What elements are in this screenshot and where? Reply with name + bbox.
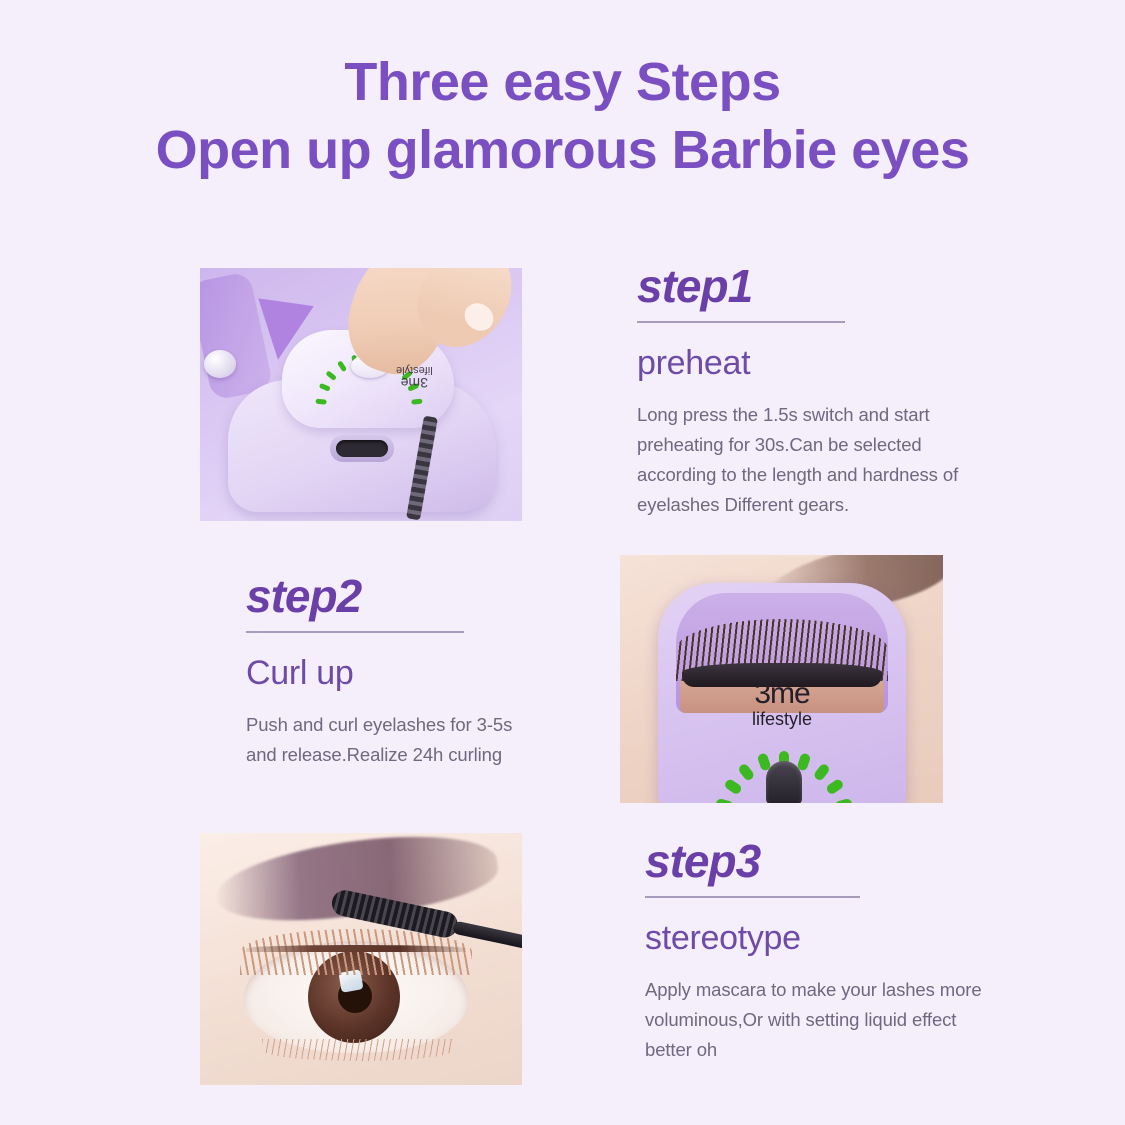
step1-description: Long press the 1.5s switch and start pre… <box>637 400 967 520</box>
lash-line <box>246 945 466 952</box>
watermark-step1: 3me lifestyle <box>396 364 433 390</box>
step1-title: preheat <box>637 345 967 382</box>
step3-divider <box>645 896 860 898</box>
step3-text-block: step3 stereotype Apply mascara to make y… <box>645 838 985 1065</box>
step3-label: step3 <box>645 838 985 884</box>
step2-description: Push and curl eyelashes for 3-5s and rel… <box>246 710 546 770</box>
step2-title: Curl up <box>246 655 546 692</box>
step3-photo <box>200 833 522 1085</box>
step3-title: stereotype <box>645 920 985 957</box>
power-button <box>766 761 802 803</box>
watermark-sub: lifestyle <box>396 364 433 376</box>
usb-c-port-icon <box>336 440 388 457</box>
step1-label: step1 <box>637 263 967 309</box>
step2-photo: 3me lifestyle <box>620 555 943 803</box>
heading-line-2: Open up glamorous Barbie eyes <box>0 120 1125 180</box>
step1-photo: 3me lifestyle <box>200 268 522 521</box>
step3-description: Apply mascara to make your lashes more v… <box>645 975 985 1065</box>
lower-lashes <box>262 1039 454 1061</box>
page-title: Three easy Steps Open up glamorous Barbi… <box>0 52 1125 181</box>
step1-divider <box>637 321 845 323</box>
infographic-page: Three easy Steps Open up glamorous Barbi… <box>0 0 1125 1125</box>
watermark-step2: 3me lifestyle <box>706 679 858 737</box>
watermark-brand: 3me <box>706 679 858 709</box>
curler-knob <box>204 350 236 378</box>
step2-label: step2 <box>246 573 546 619</box>
watermark-sub: lifestyle <box>706 709 858 731</box>
step2-text-block: step2 Curl up Push and curl eyelashes fo… <box>246 573 546 770</box>
step2-divider <box>246 631 464 633</box>
step1-text-block: step1 preheat Long press the 1.5s switch… <box>637 263 967 520</box>
watermark-brand: 3me <box>396 376 433 391</box>
heading-line-1: Three easy Steps <box>0 52 1125 112</box>
